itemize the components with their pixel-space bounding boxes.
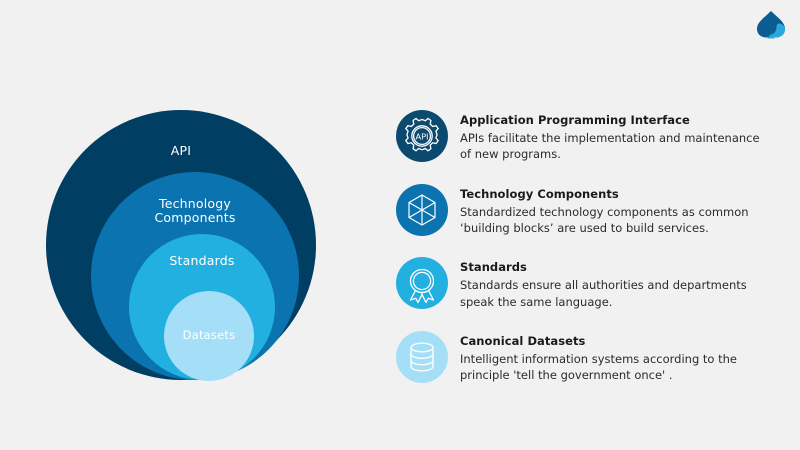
api-gear-icon: API: [396, 110, 448, 162]
diagram-ring-datasets-label: Datasets: [183, 329, 236, 381]
list-item-title: Canonical Datasets: [460, 334, 760, 348]
list-item-description: Standardized technology components as co…: [460, 204, 760, 237]
list-item: Technology Components Standardized techn…: [396, 184, 776, 237]
list-item-text: Application Programming Interface APIs f…: [460, 110, 760, 163]
list-item: Canonical Datasets Intelligent informati…: [396, 331, 776, 384]
list-item-title: Standards: [460, 260, 760, 274]
list-item: Standards Standards ensure all authoriti…: [396, 257, 776, 310]
award-icon: [396, 257, 448, 309]
list-item-text: Standards Standards ensure all authoriti…: [460, 257, 760, 310]
legend-list: API Application Programming Interface AP…: [396, 110, 776, 405]
database-icon: [396, 331, 448, 383]
cube-icon: [396, 184, 448, 236]
list-item-description: Intelligent information systems accordin…: [460, 351, 760, 384]
list-item-description: Standards ensure all authorities and dep…: [460, 277, 760, 310]
list-item-title: Application Programming Interface: [460, 113, 760, 127]
list-item: API Application Programming Interface AP…: [396, 110, 776, 163]
list-item-description: APIs facilitate the implementation and m…: [460, 130, 760, 163]
list-item-text: Canonical Datasets Intelligent informati…: [460, 331, 760, 384]
list-item-text: Technology Components Standardized techn…: [460, 184, 760, 237]
nested-layers-diagram: API Technology Components Standards Data…: [46, 110, 316, 382]
diagram-ring-datasets: Datasets: [164, 291, 254, 381]
brand-spade-logo: [754, 8, 788, 42]
list-item-title: Technology Components: [460, 187, 760, 201]
api-icon-text: API: [416, 131, 429, 141]
